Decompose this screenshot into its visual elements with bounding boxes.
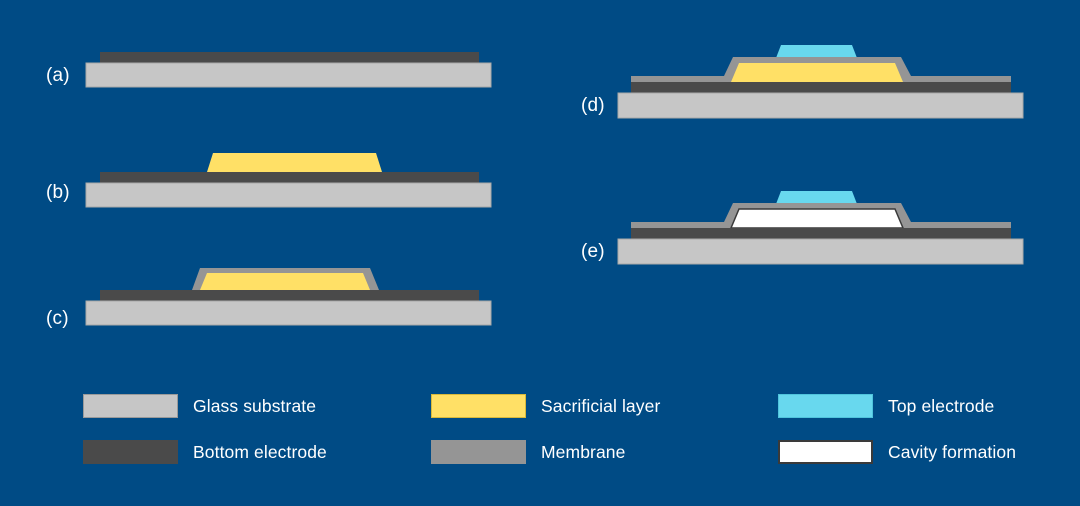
panel-a-drawing (86, 52, 491, 87)
panel-label-c: (c) (46, 308, 69, 330)
legend-label-bottom-electrode: Bottom electrode (193, 442, 327, 463)
legend-item-glass-substrate: Glass substrate (83, 394, 316, 418)
panel-c-drawing (86, 268, 491, 325)
legend-label-sacrificial-layer: Sacrificial layer (541, 396, 660, 417)
legend-swatch-glass-substrate (83, 394, 178, 418)
legend-swatch-bottom-electrode (83, 440, 178, 464)
figure-canvas: (a) (b) (c) (d) (e) Glass substrate Bott… (0, 0, 1080, 506)
panel-d-bottom-electrode (631, 82, 1011, 93)
panel-e-bottom-electrode (631, 228, 1011, 239)
panel-e-glass-substrate (618, 239, 1023, 264)
legend-item-cavity-formation: Cavity formation (778, 440, 1016, 464)
panel-b-bottom-electrode (100, 172, 479, 183)
panel-d-top-electrode (776, 45, 857, 58)
panel-label-d: (d) (581, 95, 605, 117)
panel-a-glass-substrate (86, 63, 491, 87)
legend-item-membrane: Membrane (431, 440, 625, 464)
legend-item-top-electrode: Top electrode (778, 394, 994, 418)
panel-label-e: (e) (581, 241, 605, 263)
panel-e-cavity-formation (731, 209, 903, 228)
legend-label-top-electrode: Top electrode (888, 396, 994, 417)
process-flow-diagram (0, 0, 1080, 506)
legend-swatch-sacrificial-layer (431, 394, 526, 418)
panel-d-glass-substrate (618, 93, 1023, 118)
panel-b-sacrificial-layer (207, 153, 382, 172)
panel-label-a: (a) (46, 65, 70, 87)
panel-b-drawing (86, 153, 491, 207)
panel-d-drawing (618, 45, 1023, 118)
panel-label-b: (b) (46, 182, 70, 204)
legend-label-glass-substrate: Glass substrate (193, 396, 316, 417)
panel-b-glass-substrate (86, 183, 491, 207)
legend-swatch-membrane (431, 440, 526, 464)
legend-label-membrane: Membrane (541, 442, 625, 463)
panel-c-bottom-electrode (100, 290, 479, 301)
panel-a-bottom-electrode (100, 52, 479, 63)
panel-c-sacrificial-layer (200, 273, 370, 290)
legend-label-cavity-formation: Cavity formation (888, 442, 1016, 463)
panel-d-sacrificial-layer (731, 63, 903, 82)
panel-e-top-electrode (776, 191, 857, 204)
panel-c-glass-substrate (86, 301, 491, 325)
legend-swatch-top-electrode (778, 394, 873, 418)
legend-item-sacrificial-layer: Sacrificial layer (431, 394, 660, 418)
panel-e-drawing (618, 191, 1023, 264)
legend-item-bottom-electrode: Bottom electrode (83, 440, 327, 464)
legend-swatch-cavity-formation (778, 440, 873, 464)
